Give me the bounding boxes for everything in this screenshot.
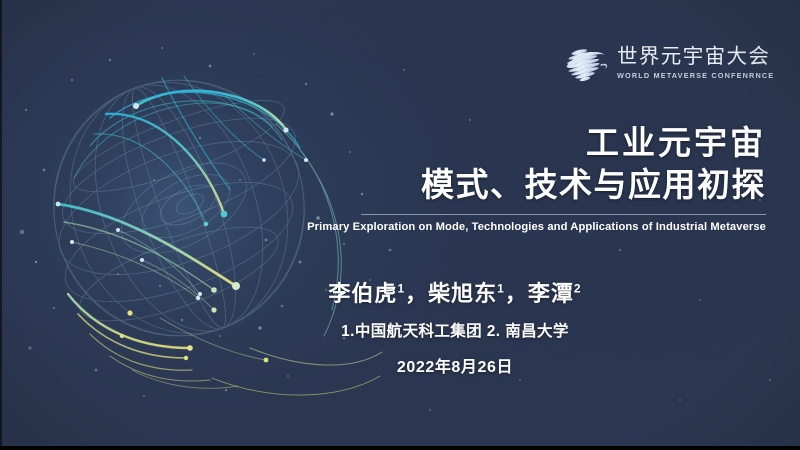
author-block: 李伯虎1，柴旭东1，李潭2 1.中国航天科工集团 2. 南昌大学 2022年8月… [0, 280, 800, 377]
author-separator-1: ， [405, 281, 428, 306]
bottom-edge-bar [0, 446, 800, 450]
logo-chinese-name: 世界元宇宙大会 [617, 46, 774, 68]
title-block: 工业元宇宙 模式、技术与应用初探 Primary Exploration on … [206, 124, 766, 233]
author-affiliation-marker-1: 1 [397, 282, 405, 296]
title-divider [361, 214, 766, 215]
author-affiliation-marker-2: 1 [497, 282, 505, 296]
author-names: 李伯虎1，柴旭东1，李潭2 [110, 280, 800, 308]
author-separator-2: ， [505, 281, 528, 306]
author-affiliation-marker-3: 2 [574, 282, 582, 296]
author-affiliations: 1.中国航天科工集团 2. 南昌大学 [110, 319, 800, 341]
conference-logo: 世界元宇宙大会 WORLD METAVERSE CONFENRNCE [560, 36, 775, 92]
author-name-2: 柴旭东 [428, 281, 497, 306]
left-edge-bar [0, 0, 2, 450]
page-title: 工业元宇宙 [206, 124, 766, 163]
striped-globe-swoosh-icon [560, 42, 610, 86]
presentation-date: 2022年8月26日 [110, 353, 800, 377]
page-subtitle-en: Primary Exploration on Mode, Technologie… [206, 221, 766, 233]
presentation-title-slide: 世界元宇宙大会 WORLD METAVERSE CONFENRNCE 工业元宇宙… [0, 0, 800, 450]
author-name-3: 李潭 [528, 281, 574, 306]
logo-english-name: WORLD METAVERSE CONFENRNCE [617, 71, 774, 81]
author-name-1: 李伯虎 [328, 281, 397, 306]
page-subtitle-cn: 模式、技术与应用初探 [206, 165, 766, 205]
